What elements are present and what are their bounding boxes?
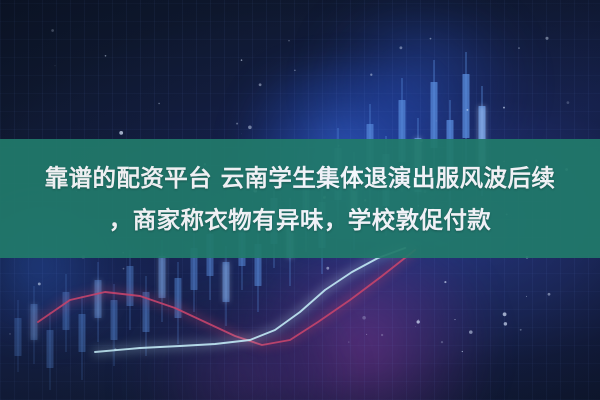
headline-banner: 靠谱的配资平台 云南学生集体退演出服风波后续 ，商家称衣物有异味，学校敦促付款 bbox=[0, 139, 600, 258]
headline-line-2: ，商家称衣物有异味，学校敦促付款 bbox=[109, 199, 491, 241]
headline-line-1: 靠谱的配资平台 云南学生集体退演出服风波后续 bbox=[45, 157, 555, 199]
screenshot-root: 靠谱的配资平台 云南学生集体退演出服风波后续 ，商家称衣物有异味，学校敦促付款 bbox=[0, 0, 600, 400]
